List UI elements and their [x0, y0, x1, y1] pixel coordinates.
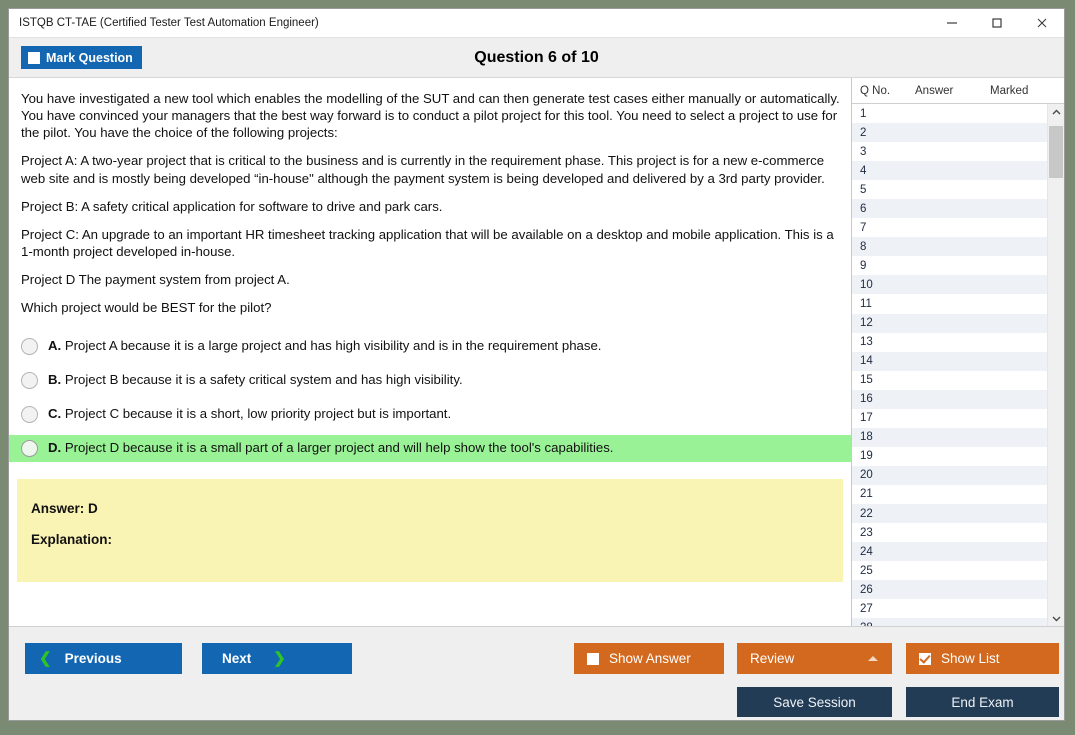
- show-answer-button[interactable]: Show Answer: [574, 643, 724, 674]
- question-list-row[interactable]: 15: [852, 371, 1047, 390]
- maximize-icon[interactable]: [974, 10, 1019, 37]
- scrollbar-thumb[interactable]: [1049, 126, 1063, 178]
- next-button[interactable]: Next ❯: [202, 643, 352, 674]
- body-area: You have investigated a new tool which e…: [9, 78, 1064, 626]
- question-list-row[interactable]: 16: [852, 390, 1047, 409]
- row-qno: 16: [860, 393, 911, 405]
- option-c-letter: C.: [48, 406, 61, 421]
- row-qno: 10: [860, 279, 911, 291]
- chevron-left-icon: ❮: [39, 651, 52, 666]
- option-d[interactable]: D. Project D because it is a small part …: [9, 435, 851, 462]
- end-exam-label: End Exam: [951, 695, 1013, 710]
- window-frame: ISTQB CT-TAE (Certified Tester Test Auto…: [8, 8, 1065, 721]
- close-icon[interactable]: [1019, 10, 1064, 37]
- question-list-row[interactable]: 14: [852, 352, 1047, 371]
- window-title: ISTQB CT-TAE (Certified Tester Test Auto…: [9, 17, 319, 29]
- title-bar: ISTQB CT-TAE (Certified Tester Test Auto…: [9, 9, 1064, 38]
- row-qno: 17: [860, 412, 911, 424]
- explanation-label: Explanation:: [31, 532, 843, 547]
- question-list-row[interactable]: 21: [852, 485, 1047, 504]
- question-header-bar: Mark Question Question 6 of 10: [9, 38, 1064, 78]
- column-header-marked: Marked: [990, 85, 1060, 97]
- question-paragraph: You have investigated a new tool which e…: [17, 90, 845, 141]
- row-qno: 21: [860, 488, 911, 500]
- question-list-row[interactable]: 27: [852, 599, 1047, 618]
- question-list-row[interactable]: 26: [852, 580, 1047, 599]
- answer-explanation-box: Answer: D Explanation:: [17, 479, 843, 582]
- review-label: Review: [750, 651, 794, 666]
- option-c[interactable]: C. Project C because it is a short, low …: [9, 401, 851, 428]
- row-qno: 5: [860, 184, 911, 196]
- application-window: ISTQB CT-TAE (Certified Tester Test Auto…: [0, 0, 1075, 735]
- question-list-row[interactable]: 10: [852, 275, 1047, 294]
- mark-question-checkbox[interactable]: [28, 52, 40, 64]
- question-list-row[interactable]: 2: [852, 123, 1047, 142]
- scroll-up-icon[interactable]: [1048, 104, 1064, 120]
- question-pane: You have investigated a new tool which e…: [9, 78, 851, 626]
- mark-question-button[interactable]: Mark Question: [21, 46, 142, 69]
- row-qno: 2: [860, 127, 911, 139]
- show-list-label: Show List: [941, 651, 1000, 666]
- row-qno: 20: [860, 469, 911, 481]
- row-qno: 25: [860, 565, 911, 577]
- question-list-row[interactable]: 20: [852, 466, 1047, 485]
- save-session-button[interactable]: Save Session: [737, 687, 892, 717]
- question-list-rows: 1234567891011121314151617181920212223242…: [852, 104, 1047, 626]
- question-list-row[interactable]: 19: [852, 447, 1047, 466]
- option-b-text: B. Project B because it is a safety crit…: [48, 372, 463, 388]
- question-list-row[interactable]: 13: [852, 333, 1047, 352]
- row-qno: 11: [860, 298, 911, 310]
- save-session-label: Save Session: [773, 695, 856, 710]
- question-list-row[interactable]: 6: [852, 199, 1047, 218]
- option-b-letter: B.: [48, 372, 61, 387]
- question-list-row[interactable]: 7: [852, 218, 1047, 237]
- row-qno: 23: [860, 527, 911, 539]
- review-dropdown[interactable]: Review: [737, 643, 892, 674]
- answer-label: Answer: D: [31, 501, 843, 516]
- row-qno: 15: [860, 374, 911, 386]
- row-qno: 13: [860, 336, 911, 348]
- option-a-text: A. Project A because it is a large proje…: [48, 338, 601, 354]
- scroll-down-icon[interactable]: [1048, 610, 1064, 626]
- question-list-row[interactable]: 1: [852, 104, 1047, 123]
- show-list-button[interactable]: Show List: [906, 643, 1059, 674]
- question-paragraph: Project B: A safety critical application…: [17, 198, 845, 215]
- previous-label: Previous: [65, 651, 122, 666]
- option-c-text: C. Project C because it is a short, low …: [48, 406, 451, 422]
- question-counter: Question 6 of 10: [9, 49, 1064, 67]
- minimize-icon[interactable]: [929, 10, 974, 37]
- question-paragraph: Project C: An upgrade to an important HR…: [17, 226, 845, 260]
- question-list-row[interactable]: 9: [852, 256, 1047, 275]
- caret-up-icon: [868, 656, 878, 661]
- question-list-body: 1234567891011121314151617181920212223242…: [852, 104, 1064, 626]
- question-paragraph: Project D The payment system from projec…: [17, 271, 845, 288]
- question-list-row[interactable]: 17: [852, 409, 1047, 428]
- option-d-body: Project D because it is a small part of …: [65, 440, 614, 455]
- row-qno: 26: [860, 584, 911, 596]
- row-qno: 9: [860, 260, 911, 272]
- question-list-header: Q No. Answer Marked: [852, 78, 1064, 104]
- show-answer-checkbox[interactable]: [587, 653, 599, 665]
- chevron-right-icon: ❯: [273, 651, 286, 666]
- row-qno: 7: [860, 222, 911, 234]
- radio-a[interactable]: [21, 338, 38, 355]
- question-list-row[interactable]: 12: [852, 314, 1047, 333]
- show-answer-label: Show Answer: [609, 651, 691, 666]
- question-list-pane: Q No. Answer Marked 12345678910111213141…: [851, 78, 1064, 626]
- next-label: Next: [222, 651, 251, 666]
- row-qno: 27: [860, 603, 911, 615]
- question-list-row[interactable]: 11: [852, 294, 1047, 313]
- show-list-checkbox[interactable]: [919, 653, 931, 665]
- option-d-letter: D.: [48, 440, 61, 455]
- question-list-row[interactable]: 28: [852, 618, 1047, 626]
- row-qno: 1: [860, 108, 911, 120]
- row-qno: 8: [860, 241, 911, 253]
- question-paragraph: Project A: A two-year project that is cr…: [17, 152, 845, 186]
- radio-d[interactable]: [21, 440, 38, 457]
- option-d-text: D. Project D because it is a small part …: [48, 440, 613, 456]
- row-qno: 18: [860, 431, 911, 443]
- column-header-qno: Q No.: [860, 85, 915, 97]
- option-b[interactable]: B. Project B because it is a safety crit…: [9, 367, 851, 394]
- column-header-answer: Answer: [915, 85, 990, 97]
- previous-button[interactable]: ❮ Previous: [25, 643, 182, 674]
- mark-question-label: Mark Question: [46, 51, 133, 65]
- question-list-row[interactable]: 3: [852, 142, 1047, 161]
- answer-options: A. Project A because it is a large proje…: [9, 333, 851, 462]
- option-a-letter: A.: [48, 338, 61, 353]
- question-list-row[interactable]: 18: [852, 428, 1047, 447]
- question-paragraph: Which project would be BEST for the pilo…: [17, 299, 845, 316]
- option-c-body: Project C because it is a short, low pri…: [65, 406, 451, 421]
- question-list-scrollbar[interactable]: [1047, 104, 1064, 626]
- row-qno: 19: [860, 450, 911, 462]
- radio-b[interactable]: [21, 372, 38, 389]
- row-qno: 22: [860, 508, 911, 520]
- row-qno: 14: [860, 355, 911, 367]
- end-exam-button[interactable]: End Exam: [906, 687, 1059, 717]
- question-list-row[interactable]: 5: [852, 180, 1047, 199]
- row-qno: 4: [860, 165, 911, 177]
- row-qno: 12: [860, 317, 911, 329]
- question-list-row[interactable]: 25: [852, 561, 1047, 580]
- row-qno: 6: [860, 203, 911, 215]
- question-list-row[interactable]: 24: [852, 542, 1047, 561]
- option-b-body: Project B because it is a safety critica…: [65, 372, 463, 387]
- question-list-row[interactable]: 23: [852, 523, 1047, 542]
- question-list-row[interactable]: 22: [852, 504, 1047, 523]
- radio-c[interactable]: [21, 406, 38, 423]
- option-a-body: Project A because it is a large project …: [65, 338, 602, 353]
- row-qno: 3: [860, 146, 911, 158]
- question-list-row[interactable]: 8: [852, 237, 1047, 256]
- row-qno: 24: [860, 546, 911, 558]
- option-a[interactable]: A. Project A because it is a large proje…: [9, 333, 851, 360]
- question-list-row[interactable]: 4: [852, 161, 1047, 180]
